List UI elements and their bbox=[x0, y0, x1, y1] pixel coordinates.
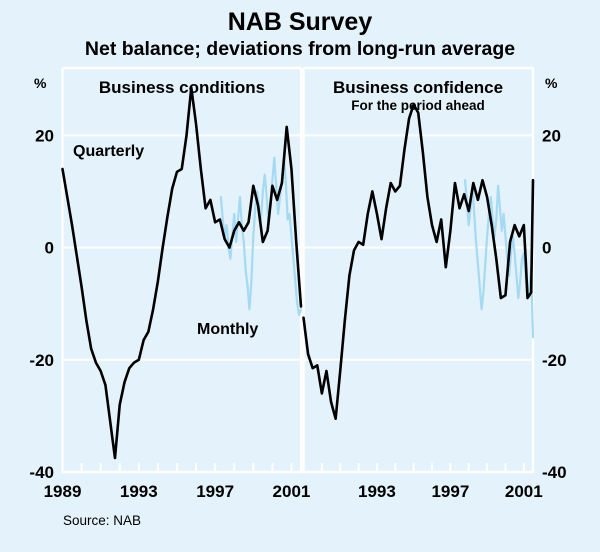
ytick-left--20: -20 bbox=[29, 351, 54, 370]
xtick-right-1997: 1997 bbox=[431, 482, 469, 501]
nab-survey-chart: NAB Survey Net balance; deviations from … bbox=[0, 0, 600, 552]
chart-title: NAB Survey bbox=[228, 8, 373, 36]
chart-subtitle: Net balance; deviations from long-run av… bbox=[85, 38, 515, 60]
right-axis-unit: % bbox=[545, 75, 558, 91]
xtick-right-1993: 1993 bbox=[358, 482, 396, 501]
ytick-left-0: 0 bbox=[45, 239, 54, 258]
ytick-right-0: 0 bbox=[542, 239, 551, 258]
xtick-left-2001: 2001 bbox=[273, 482, 311, 501]
xtick-left-1993: 1993 bbox=[120, 482, 158, 501]
panel-title-business-confidence: Business confidence bbox=[333, 78, 503, 97]
xtick-left-1997: 1997 bbox=[196, 482, 234, 501]
ytick-left-20: 20 bbox=[35, 126, 54, 145]
ytick-right-20: 20 bbox=[542, 126, 561, 145]
source-note: Source: NAB bbox=[63, 513, 141, 528]
ytick-left--40: -40 bbox=[29, 463, 54, 482]
annotation-quarterly: Quarterly bbox=[73, 143, 144, 160]
annotation-monthly: Monthly bbox=[197, 321, 258, 338]
ytick-right--20: -20 bbox=[542, 351, 567, 370]
ytick-right--40: -40 bbox=[542, 463, 567, 482]
xtick-right-2001: 2001 bbox=[505, 482, 543, 501]
left-axis-unit: % bbox=[34, 75, 47, 91]
panel-title-business-conditions: Business conditions bbox=[99, 78, 265, 97]
xtick-left-1989: 1989 bbox=[44, 482, 82, 501]
